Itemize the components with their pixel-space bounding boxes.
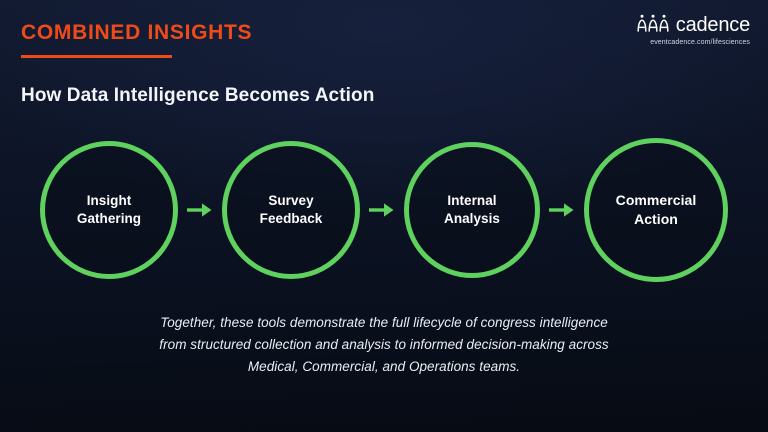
flow-node-label: Internal Analysis	[436, 192, 508, 228]
flow-node-label: Insight Gathering	[69, 192, 149, 228]
page-title: How Data Intelligence Becomes Action	[21, 85, 374, 108]
arrow-right-icon	[367, 199, 397, 221]
brand-logo: cadence eventcadence.com/lifesciences	[604, 14, 750, 46]
eyebrow-title: COMBINED INSIGHTS	[21, 22, 252, 43]
logo-row: cadence	[604, 14, 750, 36]
eyebrow-underline	[21, 55, 172, 58]
caption-block: Together, these tools demonstrate the fu…	[0, 312, 768, 378]
flow-node-label: Commercial Action	[608, 191, 705, 228]
flow-node-label: Survey Feedback	[252, 192, 331, 228]
caption-line-3: Medical, Commercial, and Operations team…	[0, 356, 768, 378]
slide-canvas: COMBINED INSIGHTS	[0, 0, 768, 432]
logo-url: eventcadence.com/lifesciences	[604, 39, 750, 46]
logo-wordmark: cadence	[676, 15, 750, 35]
caption-line-2: from structured collection and analysis …	[0, 334, 768, 356]
process-flow: Insight Gathering Survey Feedback Intern…	[40, 138, 728, 282]
flow-node-internal-analysis[interactable]: Internal Analysis	[404, 142, 540, 278]
three-people-icon	[636, 13, 670, 38]
arrow-right-icon	[185, 199, 215, 221]
caption-line-1: Together, these tools demonstrate the fu…	[0, 312, 768, 334]
flow-node-commercial-action[interactable]: Commercial Action	[584, 138, 728, 282]
flow-node-insight-gathering[interactable]: Insight Gathering	[40, 141, 178, 279]
flow-node-survey-feedback[interactable]: Survey Feedback	[222, 141, 360, 279]
arrow-right-icon	[547, 199, 577, 221]
